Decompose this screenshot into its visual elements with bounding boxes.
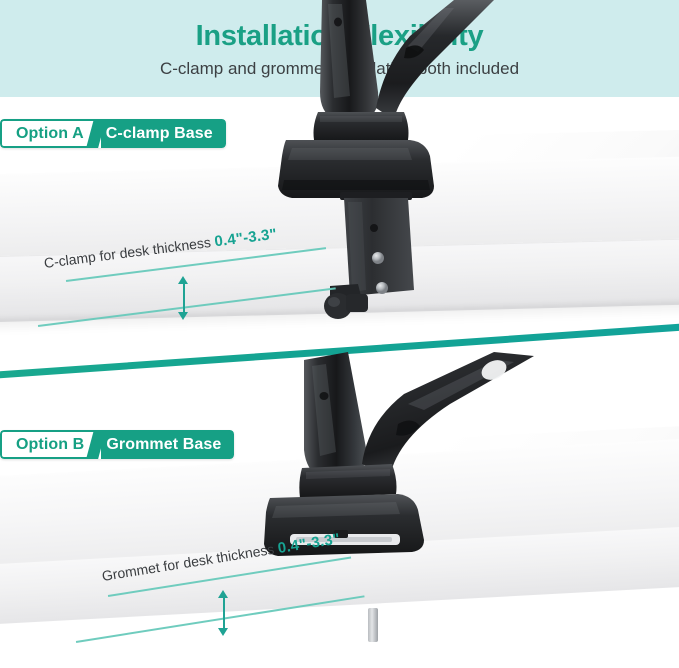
option-b-badge[interactable]: Option B Grommet Base (0, 430, 234, 459)
arm-pillar (320, 0, 378, 120)
c-clamp-arm-svg (258, 0, 558, 360)
c-clamp-monitor-arm (258, 0, 558, 365)
grommet-pole (368, 608, 378, 642)
clamp-screw-upper (372, 252, 384, 264)
infographic-canvas: Installation Flexibility C-clamp and gro… (0, 0, 679, 668)
option-a-label: Option A (0, 119, 96, 148)
arm-upper-link-b (362, 352, 534, 476)
option-b-label: Option B (0, 430, 96, 459)
double-headed-vertical-arrow-icon (178, 276, 189, 320)
clamp-screw-lower (376, 282, 388, 294)
option-b-base-label: Grommet Base (101, 430, 234, 459)
double-headed-vertical-arrow-icon-b (218, 590, 229, 636)
arm-collar-b (299, 464, 396, 498)
option-a-base-label: C-clamp Base (101, 119, 226, 148)
option-a-badge[interactable]: Option A C-clamp Base (0, 119, 226, 148)
clamp-hole (370, 224, 378, 232)
